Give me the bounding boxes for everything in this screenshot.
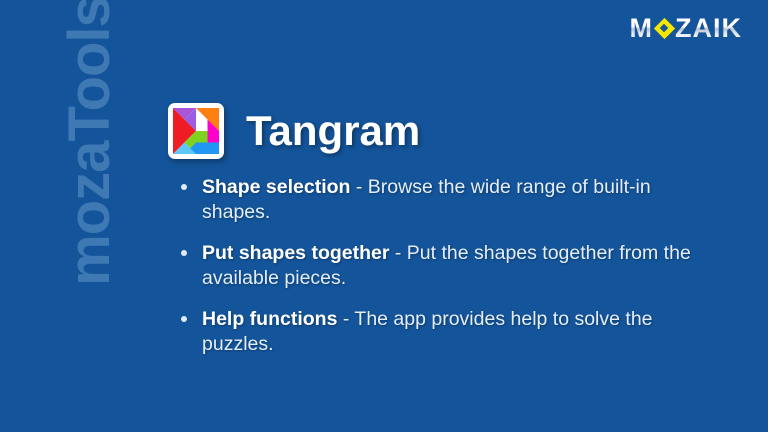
- list-item: Put shapes together - Put the shapes tog…: [176, 241, 708, 291]
- page-title: Tangram: [246, 110, 420, 152]
- diamond-icon: [654, 18, 674, 38]
- mozatools-watermark-label: mozaTools: [61, 0, 119, 316]
- tangram-icon: [168, 103, 224, 159]
- list-item: Shape selection - Browse the wide range …: [176, 175, 708, 225]
- bullet-icon: [181, 316, 187, 322]
- mozaik-logo-text-zaik: ZAIK: [675, 15, 742, 42]
- feature-term: Shape selection: [202, 176, 350, 198]
- tangram-icon-graphic: [172, 107, 220, 155]
- app-title-row: Tangram: [168, 100, 708, 162]
- mozaik-logo: M ZAIK: [630, 14, 743, 42]
- list-item: Help functions - The app provides help t…: [176, 307, 708, 357]
- slide-content: Tangram Shape selection - Browse the wid…: [168, 100, 708, 357]
- mozatools-watermark: mozaTools: [0, 0, 180, 432]
- feature-list: Shape selection - Browse the wide range …: [176, 175, 708, 357]
- feature-term: Help functions: [202, 308, 337, 330]
- bullet-icon: [181, 184, 187, 190]
- feature-term: Put shapes together: [202, 242, 389, 264]
- bullet-icon: [181, 250, 187, 256]
- mozaik-logo-text-m: M: [630, 15, 654, 42]
